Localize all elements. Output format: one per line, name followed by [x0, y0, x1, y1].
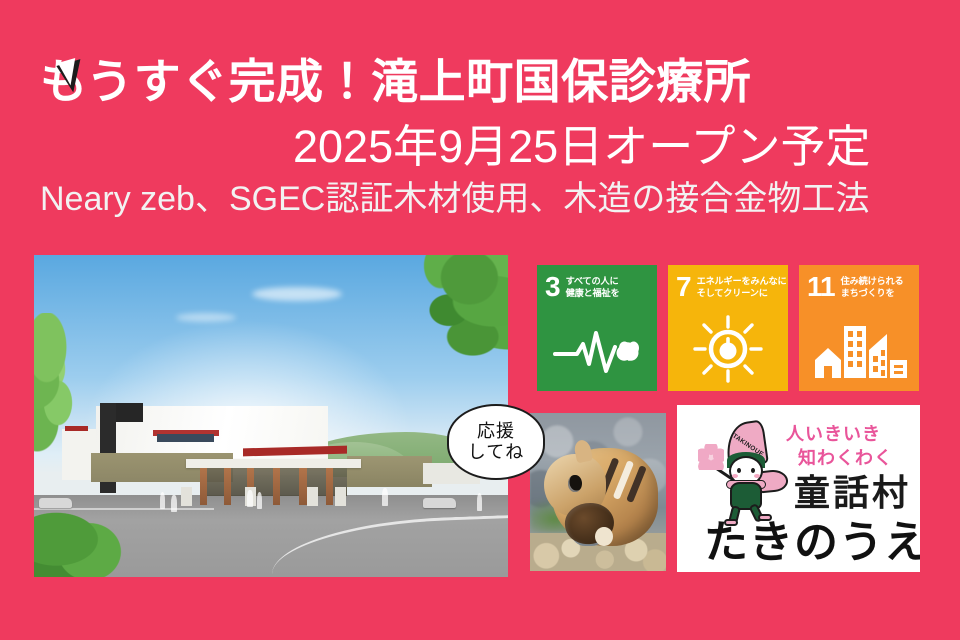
- timber-column: [224, 468, 231, 505]
- cherry-blossom-icon: [698, 444, 724, 470]
- fairy-eye: [737, 468, 741, 473]
- timber-column: [299, 468, 306, 505]
- cityscape-icon: [799, 313, 919, 385]
- figure-person: [171, 495, 176, 512]
- sdg-badge-7[interactable]: 7 エネルギーをみんなに そしてクリーンに: [668, 265, 788, 391]
- speech-bubble-text: 応援 してね: [468, 421, 524, 463]
- fairy-eye: [751, 468, 755, 473]
- sdg-badge-7-caption: エネルギーをみんなに そしてクリーンに: [697, 274, 787, 300]
- sdg-badge-11-caption: 住み続けられる まちづくりを: [841, 274, 904, 300]
- fairy-mascot-icon: TAKINOUE: [696, 418, 792, 516]
- canopy-pillar: [181, 487, 192, 506]
- timber-column: [326, 468, 333, 505]
- page-subtitle-specs: Neary zeb、SGEC認証木材使用、木造の接合金物工法: [40, 182, 869, 216]
- fairy-cheek: [754, 474, 760, 478]
- sdg-badge-3-caption: すべての人に 健康と福祉を: [566, 274, 620, 300]
- town-logo-card: TAKINOUE 人いきいき 知わくわく 童話村 たきのうえ: [677, 405, 920, 572]
- fairy-cheek: [732, 474, 738, 478]
- page-title-primary: もうすぐ完成！滝上町国保診療所: [40, 58, 751, 105]
- sdg-badge-7-number: 7: [676, 274, 691, 299]
- foliage-bush-bottom-left: [34, 493, 129, 577]
- figure-person: [247, 490, 252, 507]
- page-title-opening-date: 2025年9月25日オープン予定: [293, 124, 871, 169]
- heartbeat-icon: [537, 313, 657, 385]
- sdg-badge-11-header: 11 住み続けられる まちづくりを: [799, 265, 919, 300]
- foliage-tree-left: [34, 313, 115, 468]
- speech-bubble: 応援 してね: [447, 404, 545, 480]
- cloud-icon: [176, 313, 236, 322]
- canopy-pillar: [307, 487, 318, 506]
- sun-power-icon: [668, 313, 788, 385]
- canopy-pillar: [335, 487, 346, 506]
- sdg-badge-3-header: 3 すべての人に 健康と福祉を: [537, 265, 657, 300]
- poster-canvas: もうすぐ完成！滝上町国保診療所 2025年9月25日オープン予定 Neary z…: [0, 0, 960, 640]
- building-window-strip: [157, 434, 214, 442]
- sdg-badge-11-number: 11: [807, 274, 835, 299]
- figure-person: [160, 492, 165, 509]
- chipmunk-photo: [530, 413, 666, 571]
- headline-block: もうすぐ完成！滝上町国保診療所 2025年9月25日オープン予定 Neary z…: [0, 0, 960, 240]
- parked-car: [423, 498, 456, 508]
- town-logo-inner: TAKINOUE 人いきいき 知わくわく 童話村 たきのうえ: [682, 410, 915, 567]
- sdg-badge-7-header: 7 エネルギーをみんなに そしてクリーンに: [668, 265, 788, 300]
- chipmunk-paw: [595, 527, 613, 546]
- town-logo-sub-text: たきのうえ: [704, 506, 920, 570]
- sdg-badge-11[interactable]: 11 住み続けられる まちづくりを: [799, 265, 919, 391]
- foliage-tree-right: [347, 255, 508, 393]
- figure-person: [477, 493, 482, 510]
- figure-person: [257, 492, 262, 509]
- figure-person: [382, 488, 387, 505]
- sdg-badge-3[interactable]: 3 すべての人に 健康と福祉を: [537, 265, 657, 391]
- clinic-render-photo: [34, 255, 508, 577]
- cloud-icon: [252, 287, 342, 301]
- timber-column: [273, 468, 280, 505]
- sdg-badge-row: 3 すべての人に 健康と福祉を 7 エネルギーをみんなに そしてクリーンに: [537, 265, 920, 391]
- timber-column: [200, 468, 207, 505]
- town-logo-tagline-1: 人いきいき: [786, 420, 881, 446]
- chipmunk-eye: [568, 475, 582, 492]
- sdg-badge-3-number: 3: [545, 274, 560, 299]
